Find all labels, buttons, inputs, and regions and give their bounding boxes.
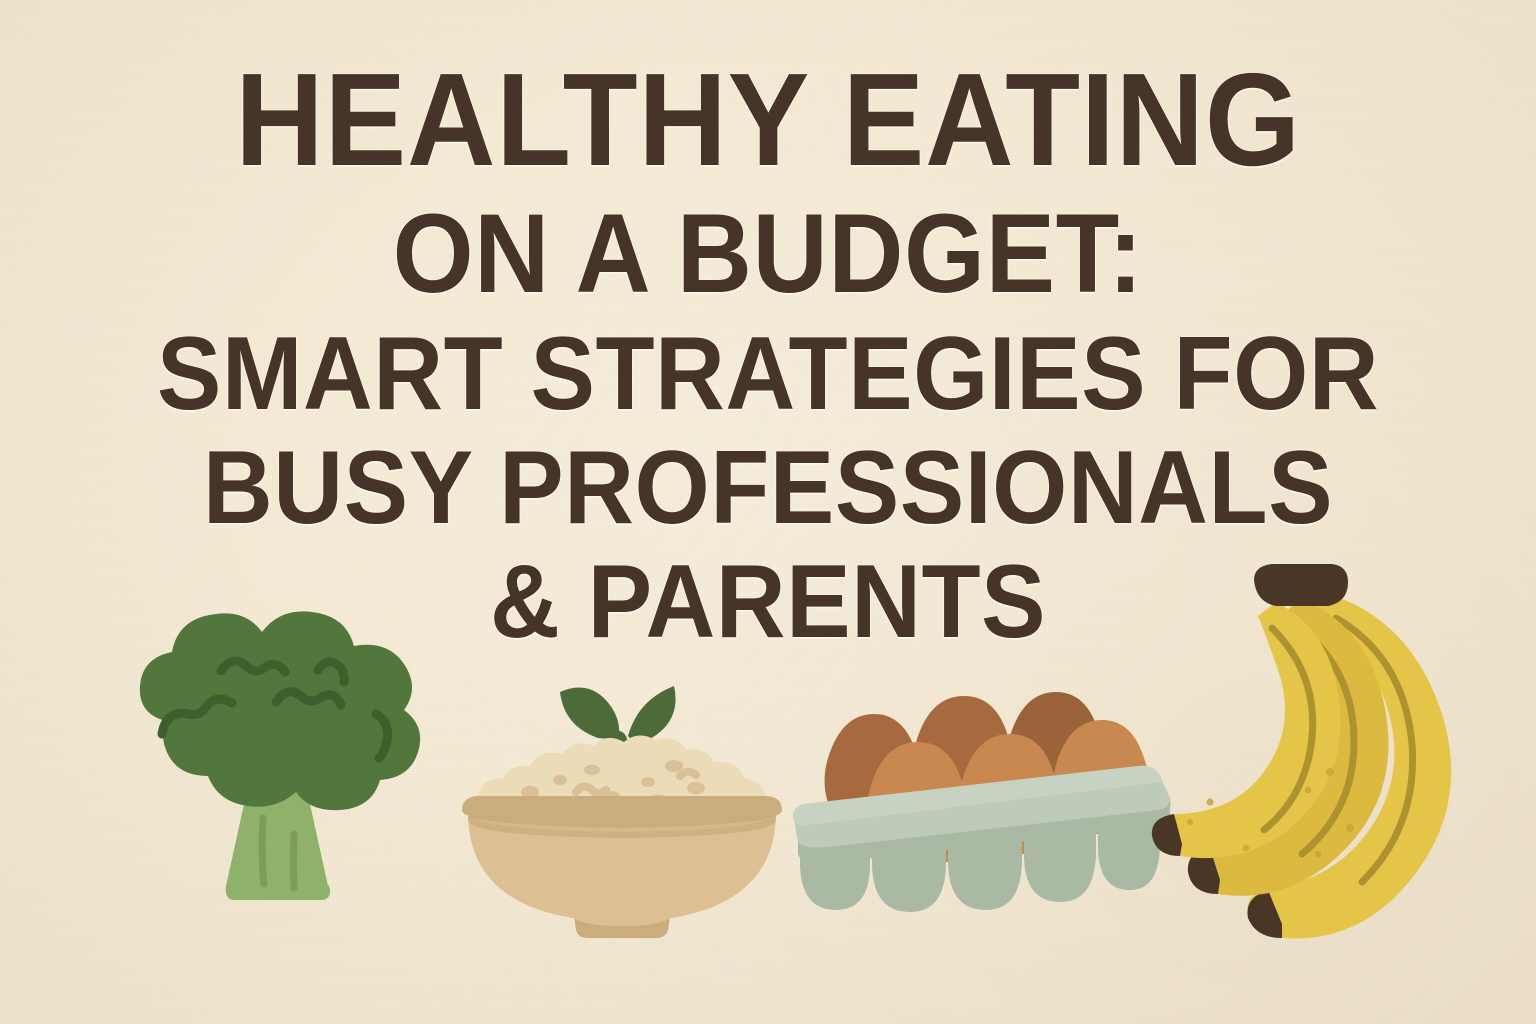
grain-bowl-illustration	[452, 630, 792, 940]
title-line-2: ON A BUDGET:	[54, 198, 1482, 310]
title-line-3: SMART STRATEGIES FOR	[54, 322, 1482, 426]
title-line-1: HEALTHY EATING	[54, 54, 1482, 186]
bowl	[462, 796, 782, 938]
page-title: HEALTHY EATING ON A BUDGET: SMART STRATE…	[0, 54, 1536, 664]
poster-canvas: HEALTHY EATING ON A BUDGET: SMART STRATE…	[0, 0, 1536, 1024]
title-line-4: BUSY PROFESSIONALS	[54, 436, 1482, 540]
title-line-5: & PARENTS	[54, 550, 1482, 654]
